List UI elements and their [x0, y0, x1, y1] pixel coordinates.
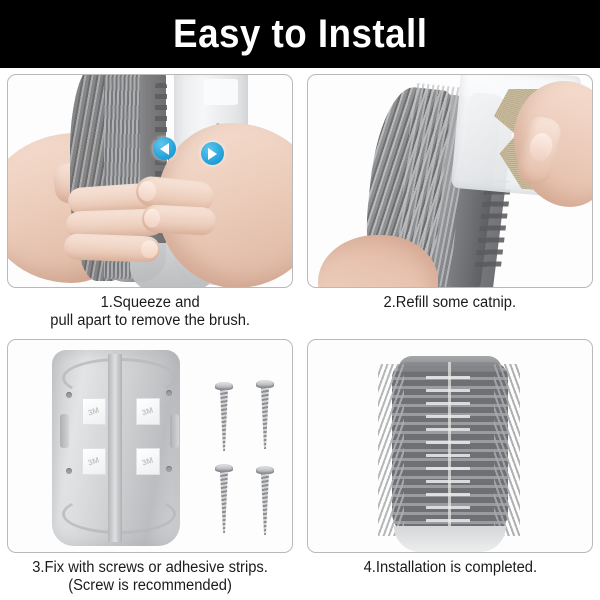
bracket-screw-hole	[166, 390, 172, 396]
bracket-screw-hole	[66, 468, 72, 474]
screw-shaft	[261, 387, 269, 449]
bracket-side-tab	[170, 414, 179, 448]
squeeze-and-pull-illustration	[8, 75, 292, 287]
screw	[261, 466, 269, 540]
step-2-caption: 2.Refill some catnip.	[384, 294, 517, 312]
title-banner: Easy to Install	[0, 0, 600, 68]
step-4: 4.Installation is completed.	[300, 333, 600, 600]
fingernail	[137, 180, 157, 202]
bracket-center-spine	[108, 354, 122, 542]
adhesive-pad: 3M	[82, 398, 106, 425]
screw	[261, 380, 269, 454]
arrow-right-badge	[201, 142, 224, 165]
mounting-hardware-illustration: 3M 3M 3M 3M	[8, 340, 292, 552]
adhesive-pad-label: 3M	[87, 456, 100, 468]
adhesive-pad-label: 3M	[141, 456, 154, 468]
screw	[220, 464, 228, 538]
bracket-screw-hole	[66, 392, 72, 398]
fingernail	[144, 208, 161, 228]
fingernail	[141, 240, 159, 259]
bracket-screw-hole	[166, 466, 172, 472]
adhesive-pad: 3M	[82, 448, 106, 475]
screw-head	[256, 380, 274, 388]
right-hand-finger	[141, 204, 216, 236]
step-4-caption-line-1: 4.Installation is completed.	[363, 559, 537, 577]
arrow-left-icon	[160, 143, 169, 155]
bracket-side-tab	[60, 414, 69, 448]
adhesive-pad: 3M	[136, 448, 160, 475]
step-3-caption-line-1: 3.Fix with screws or adhesive strips.	[32, 559, 268, 577]
screw-shaft	[220, 389, 228, 451]
installation-steps-grid: 1.Squeeze and pull apart to remove the b…	[0, 68, 600, 600]
step-1-photo	[7, 74, 293, 288]
assembled-brush-center-ridge	[448, 362, 451, 538]
assembled-brush-base	[394, 526, 506, 552]
step-2-photo	[307, 74, 593, 288]
adhesive-pad-label: 3M	[141, 406, 154, 418]
adhesive-pad: 3M	[136, 398, 160, 425]
arrow-left-badge	[153, 137, 176, 160]
refill-catnip-illustration	[308, 75, 592, 287]
arrow-right-icon	[208, 148, 217, 160]
adhesive-pad-label: 3M	[87, 406, 100, 418]
step-3-caption: 3.Fix with screws or adhesive strips. (S…	[32, 559, 268, 595]
screw-shaft	[261, 473, 269, 535]
screw-head	[256, 466, 274, 474]
completed-product-illustration	[308, 340, 592, 552]
screw-shaft	[220, 471, 228, 533]
step-3-caption-line-2: (Screw is recommended)	[32, 577, 268, 595]
step-4-caption: 4.Installation is completed.	[363, 559, 537, 577]
left-hand-finger	[64, 233, 161, 262]
step-1-caption: 1.Squeeze and pull apart to remove the b…	[50, 294, 250, 330]
step-4-photo	[307, 339, 593, 553]
screw-head	[215, 464, 233, 472]
assembled-brush-left-spikes	[378, 364, 404, 536]
screw-head	[215, 382, 233, 390]
page-title: Easy to Install	[173, 14, 427, 54]
step-2-caption-line-1: 2.Refill some catnip.	[384, 294, 517, 312]
back-shell-label-patch	[204, 79, 238, 105]
screw	[220, 382, 228, 456]
step-1-caption-line-2: pull apart to remove the brush.	[50, 312, 250, 330]
step-1: 1.Squeeze and pull apart to remove the b…	[0, 68, 300, 333]
step-3: 3M 3M 3M 3M 3.Fix with screws or adhesiv…	[0, 333, 300, 600]
assembled-brush-right-spikes	[494, 364, 520, 536]
step-3-photo: 3M 3M 3M 3M	[7, 339, 293, 553]
step-1-caption-line-1: 1.Squeeze and	[50, 294, 250, 312]
step-2: 2.Refill some catnip.	[300, 68, 600, 333]
